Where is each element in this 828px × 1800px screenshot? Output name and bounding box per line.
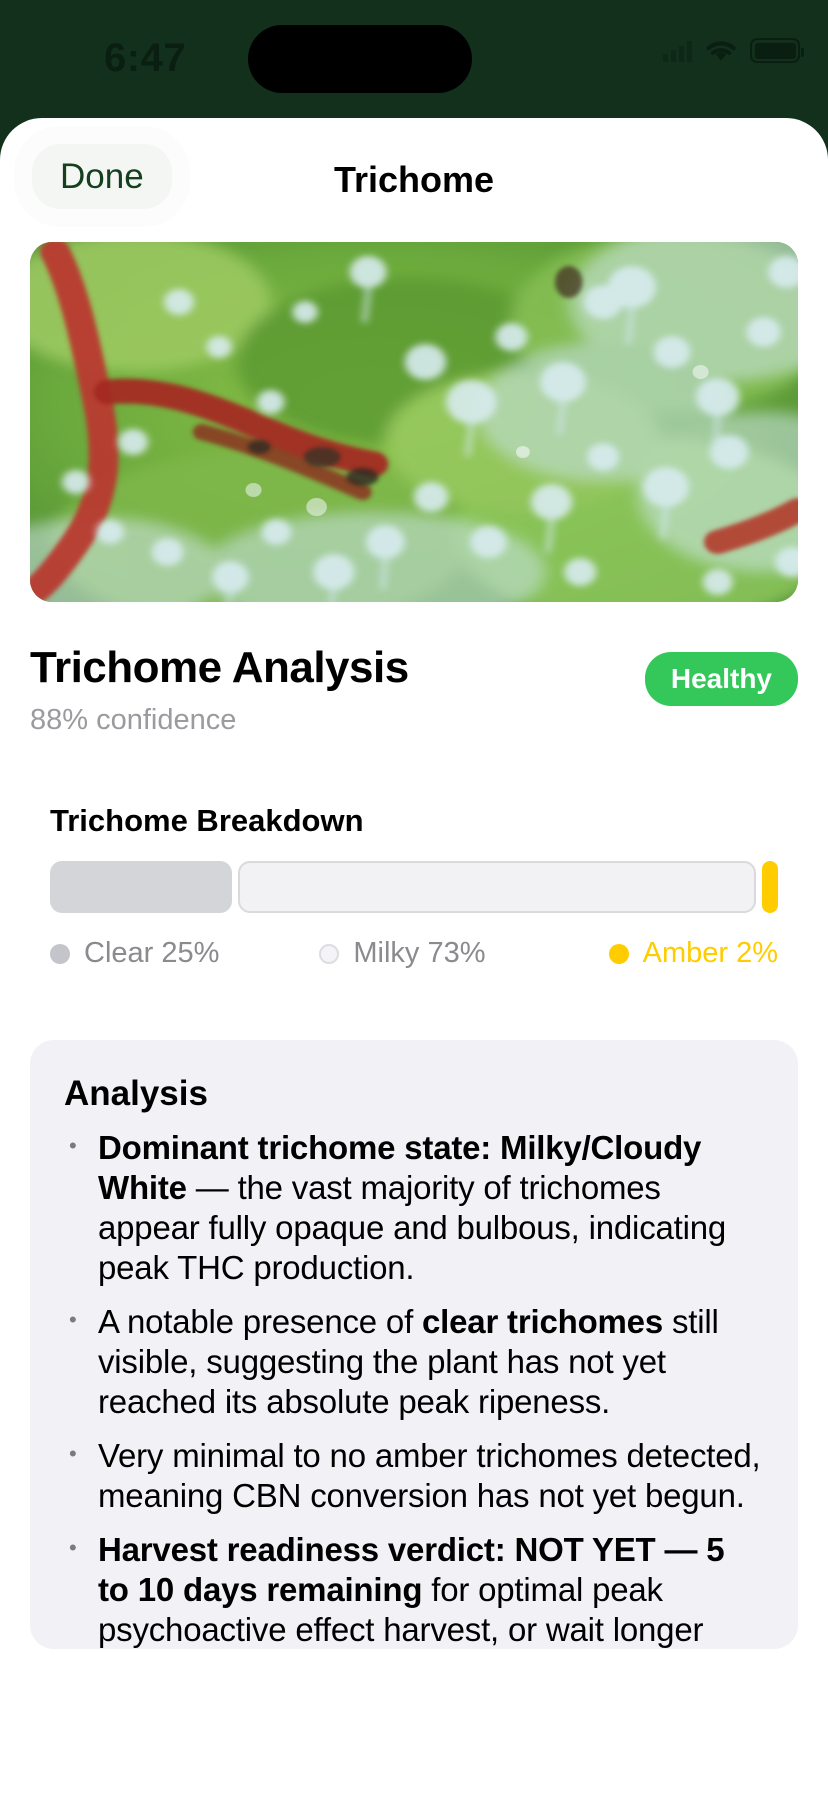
analysis-bullet-list: Dominant trichome state: Milky/Cloudy Wh… [64,1128,764,1649]
status-badge: Healthy [645,652,798,706]
breakdown-legend: Clear 25% Milky 73% Amber 2% [50,937,778,970]
bar-segment-amber [762,861,778,913]
status-bar-time: 6:47 [104,36,234,81]
analysis-bullet: A notable presence of clear trichomes st… [64,1302,764,1422]
status-bar: 6:47 [0,0,828,118]
legend-item-milky: Milky 73% [319,937,588,970]
bullet-pre: A notable presence of [98,1303,422,1340]
trichome-breakdown-section: Trichome Breakdown Clear 25% Milky 73% A… [50,803,778,970]
legend-dot-clear-icon [50,944,70,964]
breakdown-heading: Trichome Breakdown [50,803,778,839]
legend-item-clear: Clear 25% [50,937,319,970]
trichome-photo-image [30,242,798,602]
navigation-bar: Trichome Done [0,118,828,242]
confidence-label: 88% confidence [30,704,409,737]
cellular-bars-icon [663,40,692,62]
legend-label-milky: Milky 73% [353,937,485,970]
phone-screen: 6:47 Trichome Done [0,0,828,1800]
summary-text-block: Trichome Analysis 88% confidence [30,644,409,737]
wifi-icon [704,38,738,63]
summary-header: Trichome Analysis 88% confidence Healthy [30,644,798,737]
legend-dot-amber-icon [609,944,629,964]
legend-item-amber: Amber 2% [589,937,778,970]
legend-dot-milky-icon [319,944,339,964]
analysis-bullet: Very minimal to no amber trichomes detec… [64,1436,764,1516]
bar-segment-milky [238,861,756,913]
legend-label-clear: Clear 25% [84,937,219,970]
bullet-bold-mid: clear trichomes [422,1303,663,1340]
bar-segment-clear [50,861,232,913]
trichome-photo[interactable] [30,242,798,602]
analysis-card: Analysis Dominant trichome state: Milky/… [30,1040,798,1649]
battery-icon [750,38,800,63]
analysis-bullet: Harvest readiness verdict: NOT YET — 5 t… [64,1530,764,1650]
analysis-bullet: Dominant trichome state: Milky/Cloudy Wh… [64,1128,764,1288]
legend-label-amber: Amber 2% [643,937,778,970]
analysis-heading: Analysis [64,1074,764,1114]
modal-sheet: Trichome Done [0,118,828,1800]
done-button[interactable]: Done [32,144,172,209]
analysis-title: Trichome Analysis [30,644,409,692]
bullet-plain: Very minimal to no amber trichomes detec… [98,1437,761,1514]
dynamic-island [248,25,472,93]
status-bar-indicators [663,38,800,63]
bullet-rest: — the vast majority of trichomes appear … [98,1169,726,1286]
breakdown-bar [50,861,778,913]
